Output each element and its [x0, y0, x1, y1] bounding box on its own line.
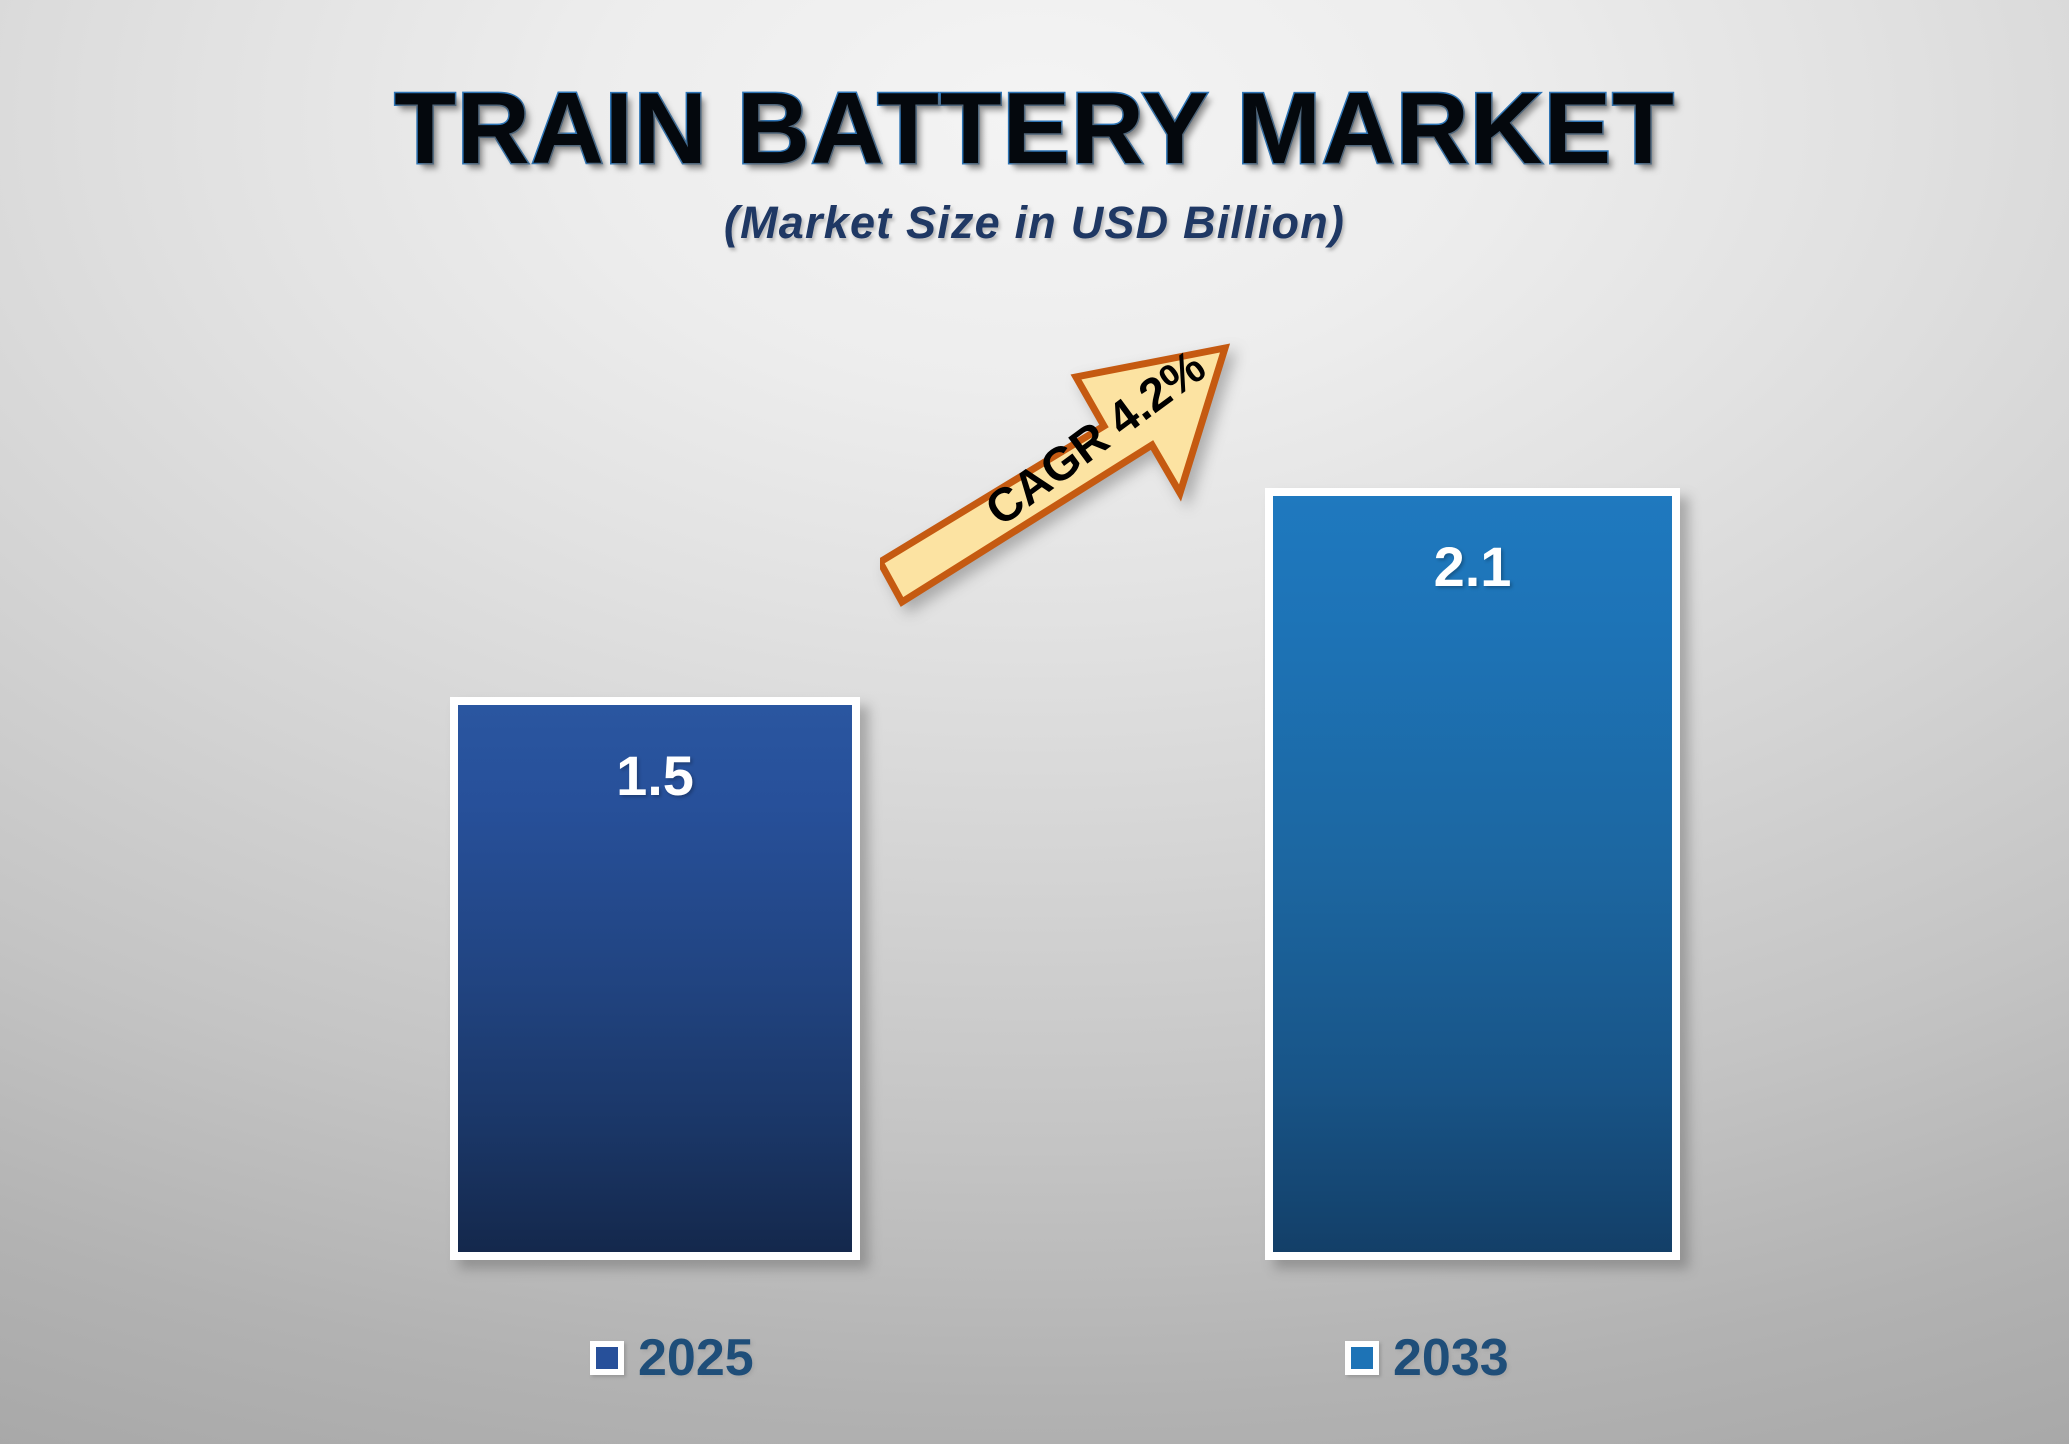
chart-subtitle: (Market Size in USD Billion) — [0, 197, 2069, 249]
legend-swatch-2033 — [1345, 1341, 1379, 1375]
bar-2025: 1.5 — [450, 697, 860, 1260]
cagr-arrow-icon — [880, 330, 1310, 620]
chart-canvas: TRAIN BATTERY MARKET (Market Size in USD… — [0, 0, 2069, 1444]
title-block: TRAIN BATTERY MARKET (Market Size in USD… — [0, 78, 2069, 249]
bar-2033: 2.1 — [1265, 488, 1680, 1260]
legend-label-2025: 2025 — [638, 1332, 754, 1384]
legend-label-2033: 2033 — [1393, 1332, 1509, 1384]
legend-item-2033: 2033 — [1345, 1332, 1509, 1384]
legend-item-2025: 2025 — [590, 1332, 754, 1384]
cagr-annotation-label: CAGR 4.2% — [946, 317, 1244, 558]
page-title: TRAIN BATTERY MARKET — [0, 78, 2069, 181]
bar-value-2025: 1.5 — [458, 743, 852, 808]
bar-value-2033: 2.1 — [1273, 534, 1672, 599]
legend-swatch-2025 — [590, 1341, 624, 1375]
